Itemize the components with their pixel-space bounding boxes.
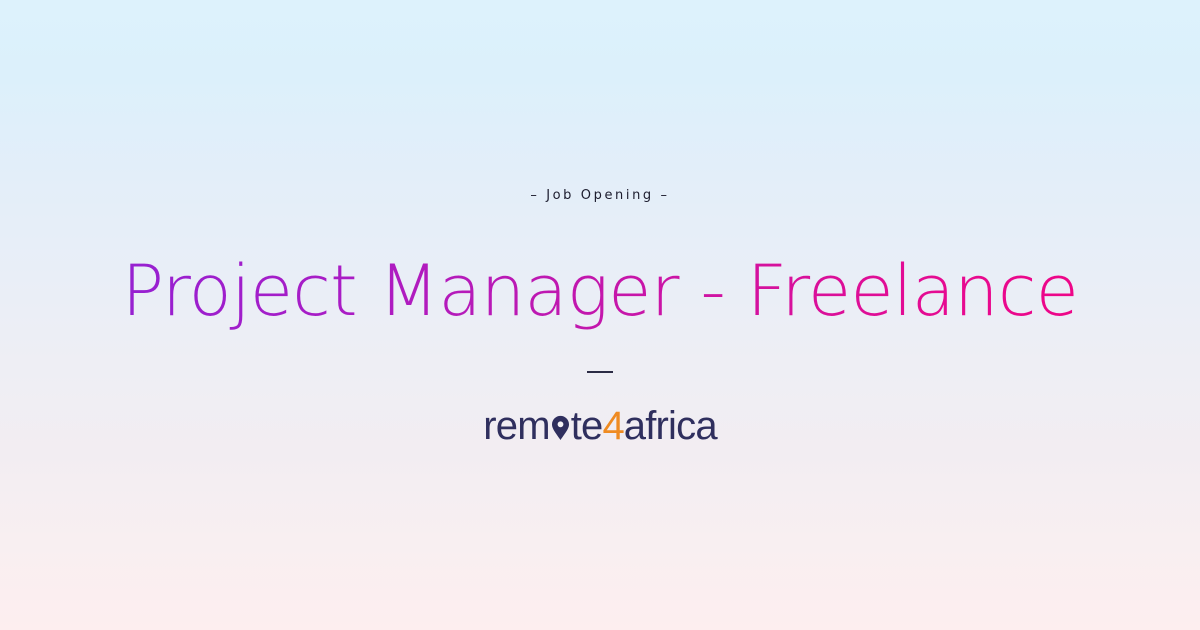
brand-logo-accent: 4 [603, 406, 624, 446]
brand-logo-prefix: rem [483, 406, 550, 446]
eyebrow-label: – Job Opening – [0, 188, 1200, 203]
page-title: Project Manager - Freelance [0, 252, 1200, 332]
brand-logo[interactable]: rem te4africa [0, 400, 1200, 446]
map-pin-icon [551, 415, 570, 441]
brand-logo-text: rem te4africa [483, 406, 717, 446]
job-opening-card: – Job Opening – Project Manager - Freela… [0, 0, 1200, 630]
brand-logo-suffix: africa [624, 406, 717, 446]
title-divider [587, 371, 613, 373]
brand-logo-midfix: te [571, 406, 603, 446]
